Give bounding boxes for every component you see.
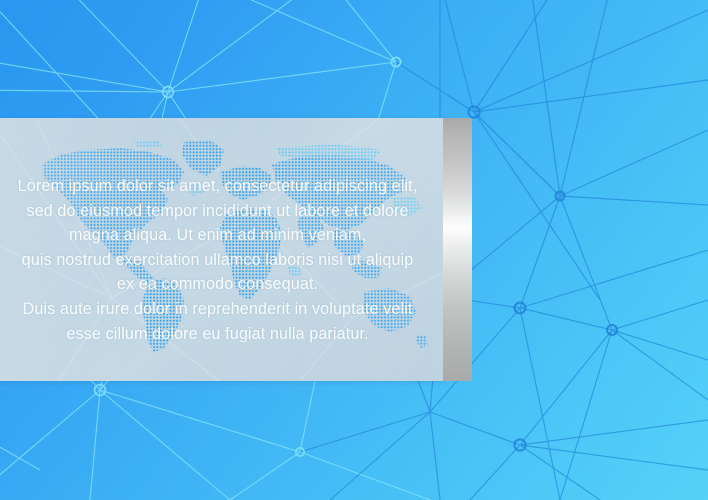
- body-paragraph: Lorem ipsum dolor sit amet, consectetur …: [0, 174, 435, 346]
- slide-canvas: Lorem ipsum dolor sit amet, consectetur …: [0, 0, 708, 500]
- metallic-silver-bar: [443, 118, 472, 381]
- content-panel: Lorem ipsum dolor sit amet, consectetur …: [0, 118, 443, 381]
